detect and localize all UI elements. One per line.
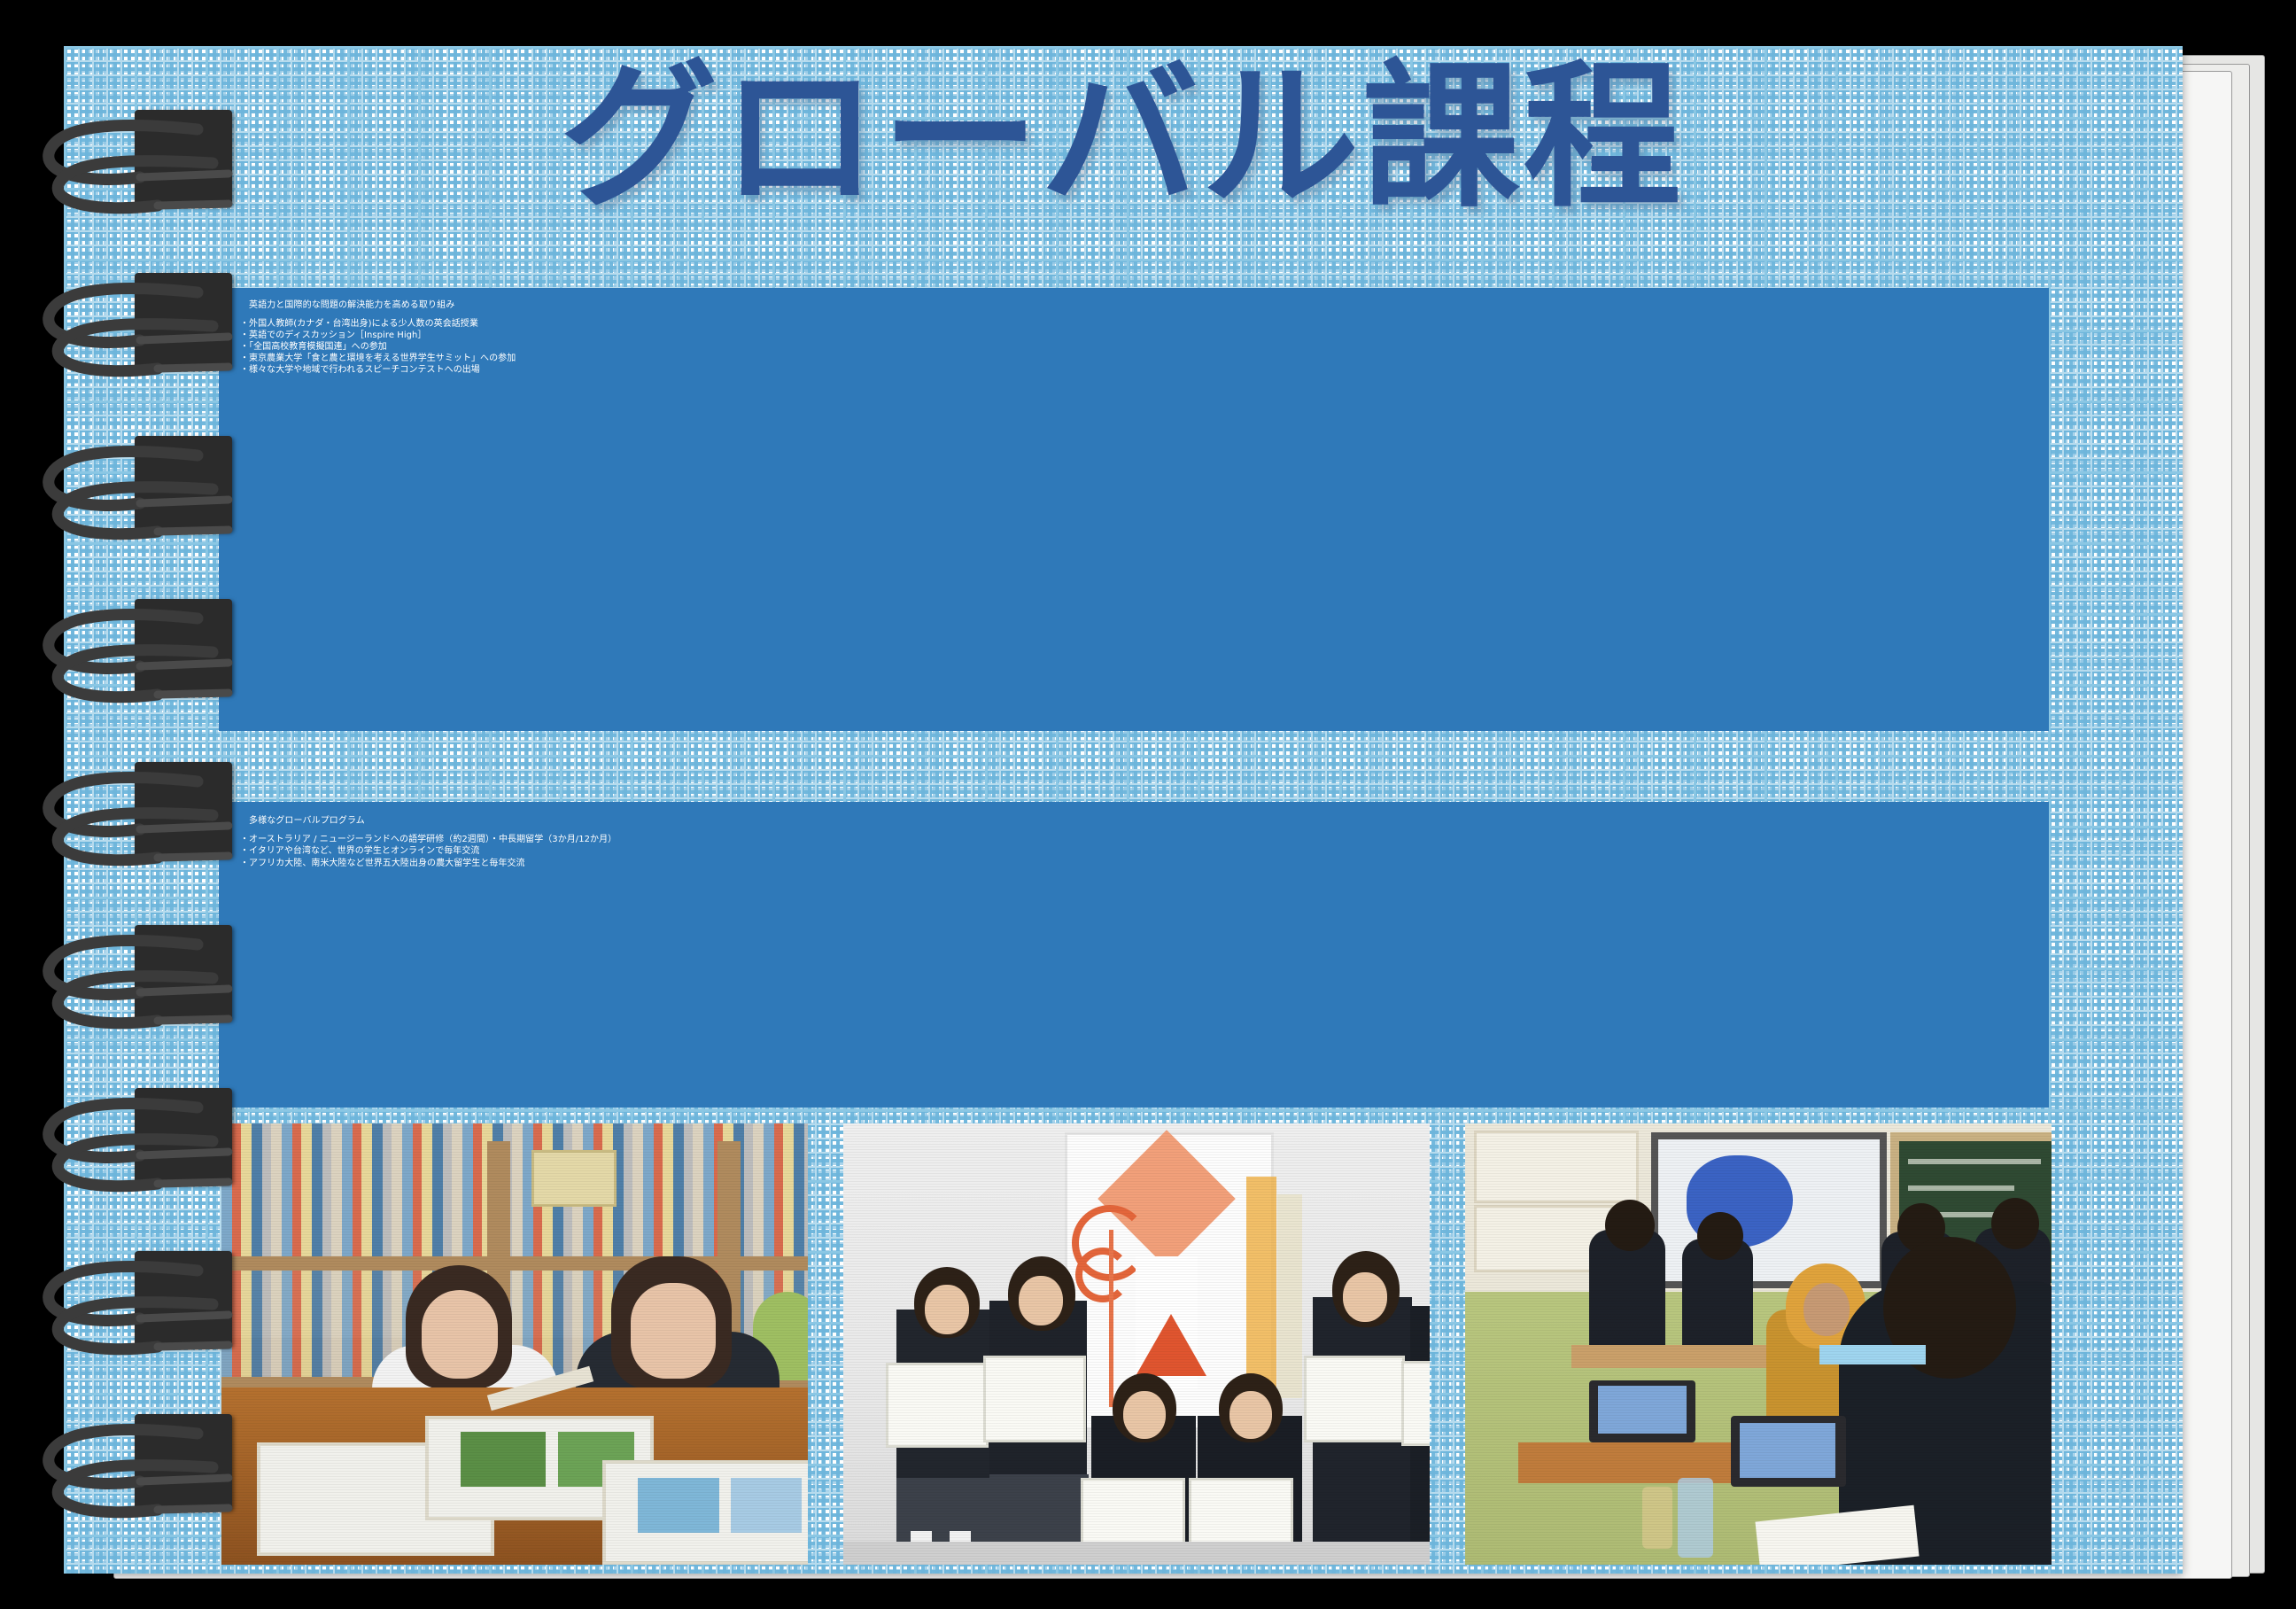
spiral-coil-icon [7, 1077, 202, 1184]
spiral-coil-icon [7, 1403, 202, 1510]
photo-speech-contest-awards [843, 1123, 1430, 1565]
section-heading: 多様なグローバルプログラム [219, 802, 2049, 830]
list-item: ・外国人教師(カナダ・台湾出身)による少人数の英会話授業 [240, 318, 2049, 330]
list-item: ・「全国高校教育模擬国連」への参加 [240, 341, 2049, 353]
slide-content: グローバル課程 英語力と国際的な問題の解決能力を高める取り組み ・外国人教師(カ… [64, 46, 2183, 1574]
photo-grain [843, 1123, 1430, 1565]
list-item: ・東京農業大学「食と農と環境を考える世界学生サミット」への参加 [240, 353, 2049, 364]
slide-canvas: グローバル課程 英語力と国際的な問題の解決能力を高める取り組み ・外国人教師(カ… [0, 0, 2296, 1609]
photo-grain [1465, 1123, 2052, 1565]
spiral-coil-icon [7, 99, 202, 206]
list-item: ・英語でのディスカッション［Inspire High］ [240, 330, 2049, 341]
spiral-coil-icon [7, 1240, 202, 1347]
list-item: ・オーストラリア / ニュージーランドへの語学研修（約2週間）・中長期留学（3か… [240, 834, 2049, 845]
list-item: ・イタリアや台湾など、世界の学生とオンラインで毎年交流 [240, 845, 2049, 857]
spiral-coil-icon [7, 425, 202, 532]
spiral-coil-icon [7, 588, 202, 695]
photo-library-students [221, 1123, 808, 1565]
section-global-programs: 多様なグローバルプログラム ・オーストラリア / ニュージーランドへの語学研修（… [219, 802, 2049, 1108]
bullet-list-english: ・外国人教師(カナダ・台湾出身)による少人数の英会話授業 ・英語でのディスカッシ… [219, 315, 2049, 376]
spiral-binding [0, 0, 248, 1609]
list-item: ・アフリカ大陸、南米大陸など世界五大陸出身の農大留学生と毎年交流 [240, 858, 2049, 869]
section-english-initiatives: 英語力と国際的な問題の解決能力を高める取り組み ・外国人教師(カナダ・台湾出身)… [219, 288, 2049, 731]
bullet-list-programs: ・オーストラリア / ニュージーランドへの語学研修（約2週間）・中長期留学（3か… [219, 830, 2049, 869]
section-heading: 英語力と国際的な問題の解決能力を高める取り組み [219, 288, 2049, 315]
list-item: ・様々な大学や地域で行われるスピーチコンテストへの出場 [240, 364, 2049, 376]
spiral-coil-icon [7, 914, 202, 1021]
spiral-coil-icon [7, 262, 202, 369]
photo-grain [221, 1123, 808, 1565]
photo-row [221, 1123, 2052, 1565]
spiral-coil-icon [7, 751, 202, 858]
notebook-page: グローバル課程 英語力と国際的な問題の解決能力を高める取り組み ・外国人教師(カ… [64, 46, 2183, 1574]
photo-classroom-international-exchange [1465, 1123, 2052, 1565]
page-title: グローバル課程 [560, 55, 1977, 221]
